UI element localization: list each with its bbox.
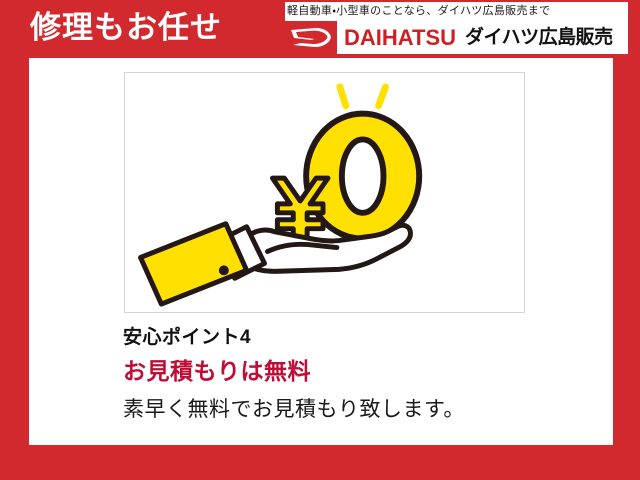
brand-tagline: 軽自動車・小型車のことなら、ダイハツ広島販売まで <box>285 2 628 21</box>
caption-title: お見積もりは無料 <box>123 354 583 388</box>
open-hand-icon <box>141 224 411 304</box>
brand-logo-bar: DAIHATSU ダイハツ広島販売 <box>285 21 628 54</box>
caption-body: 素早く無料でお見積もり致します。 <box>123 394 583 426</box>
caption-eyebrow: 安心ポイント4 <box>123 324 583 352</box>
brand-block: 軽自動車・小型車のことなら、ダイハツ広島販売まで DAIHATSU ダイハツ広島… <box>285 2 628 56</box>
free-estimate-illustration <box>124 72 525 313</box>
content-card: 安心ポイント4 お見積もりは無料 素早く無料でお見積もり致します。 <box>29 58 613 445</box>
daihatsu-wordmark: DAIHATSU <box>344 21 456 54</box>
caption-block: 安心ポイント4 お見積もりは無料 素早く無料でお見積もり致します。 <box>123 324 583 426</box>
dealer-name: ダイハツ広島販売 <box>465 21 613 54</box>
sparkle-icon <box>340 87 386 106</box>
slide-root: 修理もお任せ 軽自動車・小型車のことなら、ダイハツ広島販売まで DAIHATSU… <box>0 0 640 480</box>
daihatsu-d-emblem-icon <box>285 21 337 54</box>
page-title: 修理もお任せ <box>30 6 222 50</box>
yen-zero-on-hand-graphic <box>125 73 524 312</box>
header-band: 修理もお任せ 軽自動車・小型車のことなら、ダイハツ広島販売まで DAIHATSU… <box>0 0 640 58</box>
